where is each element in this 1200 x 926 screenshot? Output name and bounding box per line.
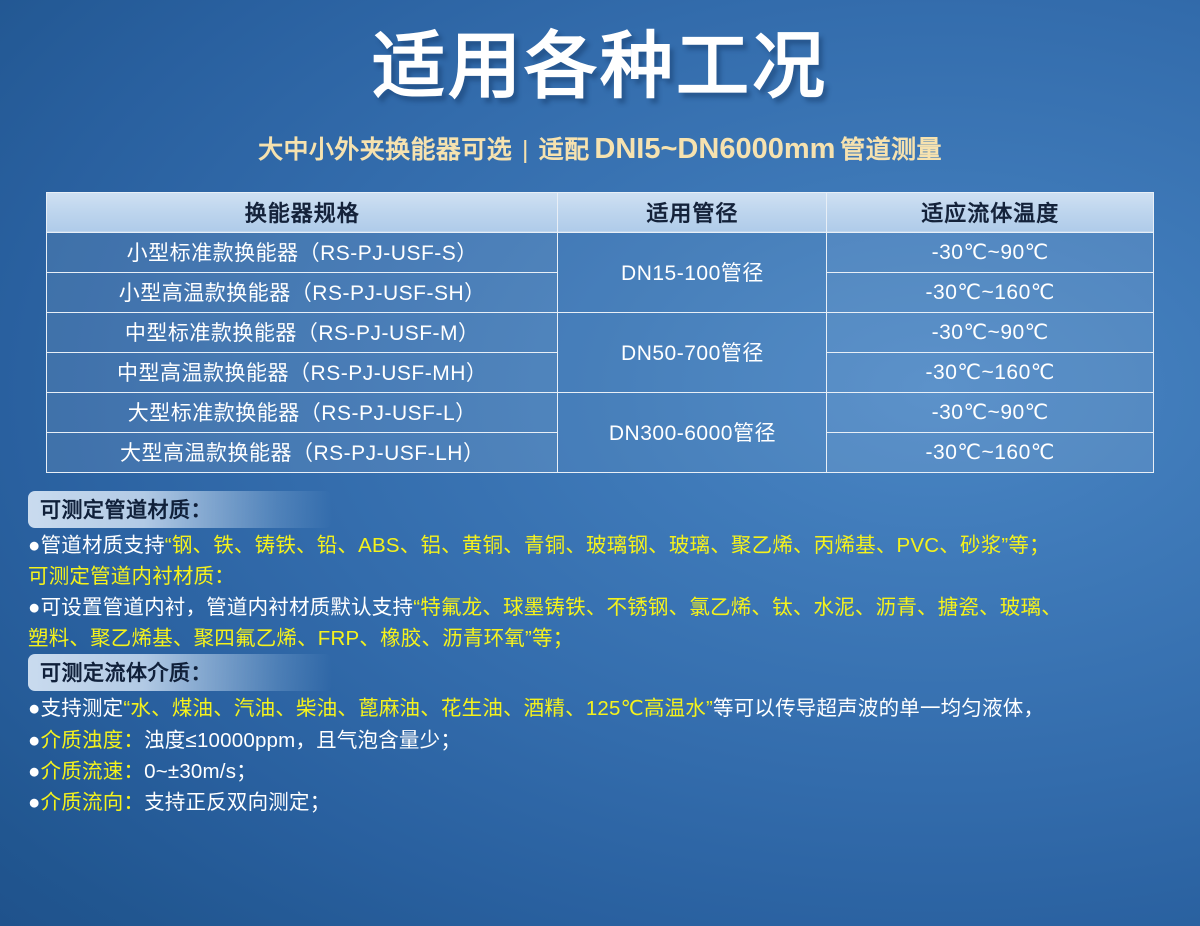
page-title: 适用各种工况 [0, 26, 1200, 108]
bullet-fluid-lead: ●支持测定 [28, 697, 123, 720]
subtitle-separator: | [517, 136, 534, 164]
column-header-temperature: 适应流体温度 [827, 192, 1154, 232]
cell-model: 中型标准款换能器（RS-PJ-USF-M） [47, 312, 558, 352]
cell-diameter: DN300-6000管径 [558, 392, 827, 472]
table-body: 小型标准款换能器（RS-PJ-USF-S）DN15-100管径-30℃~90℃小… [47, 232, 1154, 472]
column-header-model: 换能器规格 [47, 192, 558, 232]
cell-model: 小型高温款换能器（RS-PJ-USF-SH） [47, 272, 558, 312]
bullet-fluid-highlight: 介质流速： [41, 760, 145, 783]
cell-temperature: -30℃~90℃ [827, 392, 1154, 432]
table-row: 中型标准款换能器（RS-PJ-USF-M）DN50-700管径-30℃~90℃ [47, 312, 1154, 352]
spec-table-container: 换能器规格 适用管径 适应流体温度 小型标准款换能器（RS-PJ-USF-S）D… [46, 192, 1154, 473]
cell-model: 大型标准款换能器（RS-PJ-USF-L） [47, 392, 558, 432]
bullet-fluid-medium: ●介质流速：0~±30m/s； [28, 756, 1178, 787]
section-heading-pipe-material: 可测定管道材质： [28, 491, 332, 528]
bullet-fluid-tail: 等可以传导超声波的单一均匀液体， [713, 697, 1044, 720]
subtitle-code: DNI5~DN6000mm [594, 133, 835, 165]
cell-model: 中型高温款换能器（RS-PJ-USF-MH） [47, 352, 558, 392]
subtitle-part-3: 管道测量 [840, 136, 942, 164]
subtitle-part-2: 适配 [539, 136, 590, 164]
cell-temperature: -30℃~160℃ [827, 352, 1154, 392]
bullet-lining-material-tail: 等； [532, 627, 573, 650]
bullet-fluid-medium: ●支持测定“水、煤油、汽油、柴油、蓖麻油、花生油、酒精、125℃高温水”等可以传… [28, 693, 1178, 724]
bullet-lining-material-list: “特氟龙、球墨铸铁、不锈钢、氯乙烯、钛、水泥、沥青、搪瓷、玻璃、 [413, 596, 1062, 619]
cell-diameter: DN50-700管径 [558, 312, 827, 392]
bullet-fluid-highlight: “水、煤油、汽油、柴油、蓖麻油、花生油、酒精、125℃高温水” [123, 697, 713, 720]
bullet-fluid-tail: 浊度≤10000ppm，且气泡含量少； [144, 729, 461, 752]
page-subtitle: 大中小外夹换能器可选 | 适配 DNI5~DN6000mm 管道测量 [0, 130, 1200, 166]
cell-temperature: -30℃~90℃ [827, 232, 1154, 272]
promo-page: 适用各种工况 大中小外夹换能器可选 | 适配 DNI5~DN6000mm 管道测… [0, 0, 1200, 926]
bullet-fluid-tail: 支持正反双向测定； [144, 791, 330, 814]
bullet-lining-material: ●可设置管道内衬，管道内衬材质默认支持“特氟龙、球墨铸铁、不锈钢、氯乙烯、钛、水… [28, 592, 1178, 623]
bullet-fluid-lead: ● [28, 791, 41, 814]
bullet-fluid-medium: ●介质浊度：浊度≤10000ppm，且气泡含量少； [28, 725, 1178, 756]
table-header: 换能器规格 适用管径 适应流体温度 [47, 192, 1154, 232]
bullet-fluid-tail: 0~±30m/s； [144, 760, 257, 783]
detail-section: 可测定管道材质： ●管道材质支持“钢、铁、铸铁、铅、ABS、铝、黄铜、青铜、玻璃… [28, 491, 1178, 818]
section-heading-fluid-medium: 可测定流体介质： [28, 654, 332, 691]
bullet-pipe-material: ●管道材质支持“钢、铁、铸铁、铅、ABS、铝、黄铜、青铜、玻璃钢、玻璃、聚乙烯、… [28, 530, 1178, 561]
bullet-lining-material-lead: ●可设置管道内衬，管道内衬材质默认支持 [28, 596, 413, 619]
bullet-lining-material-line2: 塑料、聚乙烯基、聚四氟乙烯、FRP、橡胶、沥青环氧”等； [28, 623, 1178, 654]
bullet-pipe-material-lead: ●管道材质支持 [28, 534, 165, 557]
bullet-fluid-highlight: 介质浊度： [41, 729, 145, 752]
column-header-diameter: 适用管径 [558, 192, 827, 232]
bullet-lining-material-list2: 塑料、聚乙烯基、聚四氟乙烯、FRP、橡胶、沥青环氧” [28, 627, 532, 650]
bullet-fluid-medium: ●介质流向：支持正反双向测定； [28, 787, 1178, 818]
cell-model: 大型高温款换能器（RS-PJ-USF-LH） [47, 432, 558, 472]
cell-temperature: -30℃~90℃ [827, 312, 1154, 352]
transducer-spec-table: 换能器规格 适用管径 适应流体温度 小型标准款换能器（RS-PJ-USF-S）D… [46, 192, 1154, 473]
cell-temperature: -30℃~160℃ [827, 432, 1154, 472]
header: 适用各种工况 大中小外夹换能器可选 | 适配 DNI5~DN6000mm 管道测… [0, 0, 1200, 166]
table-header-row: 换能器规格 适用管径 适应流体温度 [47, 192, 1154, 232]
bullet-fluid-lead: ● [28, 729, 41, 752]
cell-diameter: DN15-100管径 [558, 232, 827, 312]
table-row: 小型标准款换能器（RS-PJ-USF-S）DN15-100管径-30℃~90℃ [47, 232, 1154, 272]
bullet-fluid-highlight: 介质流向： [41, 791, 145, 814]
table-row: 大型标准款换能器（RS-PJ-USF-L）DN300-6000管径-30℃~90… [47, 392, 1154, 432]
cell-temperature: -30℃~160℃ [827, 272, 1154, 312]
cell-model: 小型标准款换能器（RS-PJ-USF-S） [47, 232, 558, 272]
subtitle-part-1: 大中小外夹换能器可选 [258, 136, 512, 164]
bullet-pipe-material-list: “钢、铁、铸铁、铅、ABS、铝、黄铜、青铜、玻璃钢、玻璃、聚乙烯、丙烯基、PVC… [165, 534, 1009, 557]
bullet-fluid-lead: ● [28, 760, 41, 783]
section-heading-lining-material: 可测定管道内衬材质： [28, 561, 1178, 592]
fluid-medium-list: ●支持测定“水、煤油、汽油、柴油、蓖麻油、花生油、酒精、125℃高温水”等可以传… [28, 693, 1178, 818]
bullet-pipe-material-tail: 等； [1008, 534, 1049, 557]
